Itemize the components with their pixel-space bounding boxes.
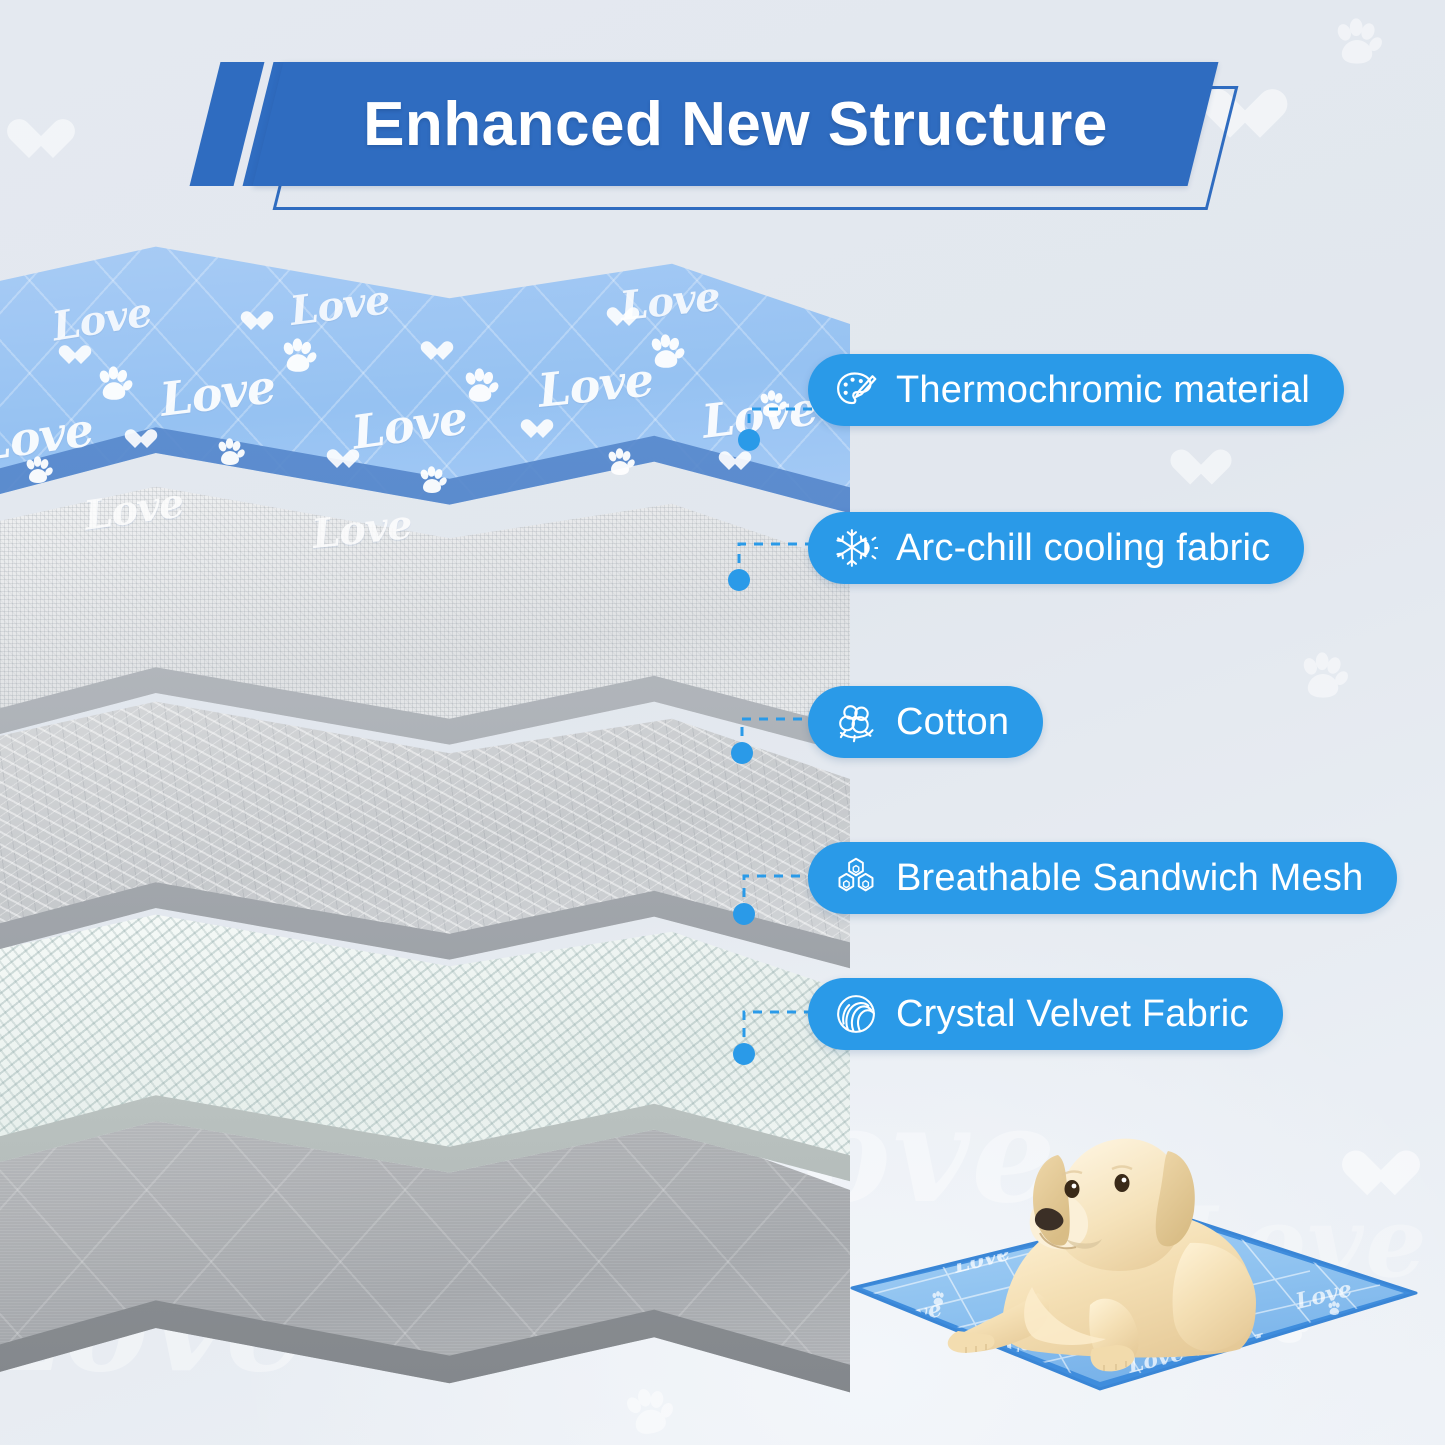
thermochromic-top-layer: Love Love Love Love Love Love Love Love … bbox=[0, 238, 850, 668]
callout-cotton[interactable]: Cotton bbox=[808, 686, 1043, 758]
fabric-layer-stack: Love Love Love Love Love Love Love Love … bbox=[0, 238, 880, 1358]
callout-label: Thermochromic material bbox=[896, 369, 1310, 412]
callout-arc-chill[interactable]: Arc-chill cooling fabric bbox=[808, 512, 1304, 584]
page-title: Enhanced New Structure bbox=[268, 62, 1203, 186]
callout-thermochromic[interactable]: Thermochromic material bbox=[808, 354, 1344, 426]
callout-pill[interactable]: Thermochromic material bbox=[808, 354, 1344, 426]
infographic-page: Love Love Love Enhanced New Structure Lo… bbox=[0, 0, 1445, 1445]
velvet-swirl-icon bbox=[834, 992, 878, 1036]
paw-watermark bbox=[1296, 652, 1350, 706]
heart-watermark bbox=[1180, 450, 1221, 491]
callout-mesh[interactable]: Breathable Sandwich Mesh bbox=[808, 842, 1397, 914]
dog-eye bbox=[1115, 1174, 1130, 1192]
callout-pill[interactable]: Arc-chill cooling fabric bbox=[808, 512, 1304, 584]
palette-icon bbox=[834, 368, 878, 412]
callout-label: Cotton bbox=[896, 701, 1009, 744]
callout-label: Arc-chill cooling fabric bbox=[896, 527, 1270, 570]
callout-label: Crystal Velvet Fabric bbox=[896, 993, 1249, 1036]
callout-pill[interactable]: Breathable Sandwich Mesh bbox=[808, 842, 1397, 914]
header-banner: Enhanced New Structure bbox=[0, 0, 1445, 230]
honeycomb-icon bbox=[834, 856, 878, 900]
product-photo-dog-on-mat: Love Love Love Love Love Love Love bbox=[770, 1055, 1445, 1445]
snowflake-sun-icon bbox=[834, 526, 878, 570]
callout-label: Breathable Sandwich Mesh bbox=[896, 857, 1363, 900]
dog-eye bbox=[1065, 1180, 1080, 1198]
callout-pill[interactable]: Cotton bbox=[808, 686, 1043, 758]
callout-pill[interactable]: Crystal Velvet Fabric bbox=[808, 978, 1283, 1050]
cotton-boll-icon bbox=[834, 700, 878, 744]
callout-velvet[interactable]: Crystal Velvet Fabric bbox=[808, 978, 1283, 1050]
